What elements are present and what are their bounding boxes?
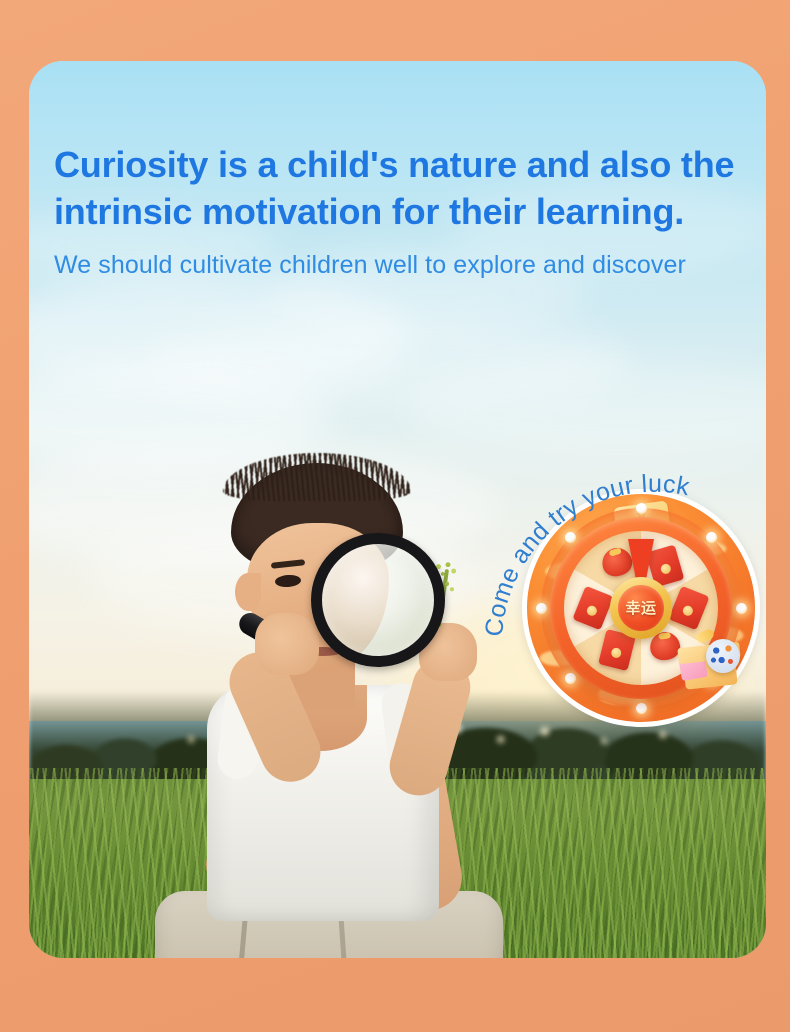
promo-banner: 幸运 Come and try your luck — [0, 0, 790, 1032]
magnifying-glass-icon — [311, 533, 445, 667]
gift-box-icon — [678, 629, 750, 691]
wheel-light-bulb — [536, 603, 547, 614]
hero-photo-panel: 幸运 Come and try your luck — [29, 61, 766, 958]
gift-ball — [706, 639, 740, 673]
wheel-light-bulb — [706, 532, 717, 543]
wheel-light-bulb — [636, 503, 647, 514]
wheel-light-bulb — [565, 673, 576, 684]
wheel-prize-gift-box — [572, 586, 613, 631]
wheel-light-bulb — [736, 603, 747, 614]
boy-photo — [89, 461, 569, 958]
page-subtitle: We should cultivate children well to exp… — [54, 249, 754, 281]
wheel-light-bulb — [565, 532, 576, 543]
wheel-light-bulb — [636, 703, 647, 714]
headline-line-2: intrinsic motivation for their learning. — [54, 191, 684, 232]
spin-button-core: 幸运 — [618, 585, 664, 631]
wheel-spin-button[interactable]: 幸运 — [610, 577, 672, 639]
headline-line-1: Curiosity is a child's nature and also t… — [54, 144, 734, 185]
page-title: Curiosity is a child's nature and also t… — [54, 141, 754, 235]
hero-text-block: Curiosity is a child's nature and also t… — [54, 141, 754, 281]
lucky-draw-badge[interactable]: 幸运 — [522, 489, 760, 727]
boy-ear — [235, 573, 261, 611]
boy-hand-right — [255, 613, 319, 675]
spin-button-label: 幸运 — [625, 601, 656, 616]
wheel-prize-gift-box — [668, 586, 709, 631]
